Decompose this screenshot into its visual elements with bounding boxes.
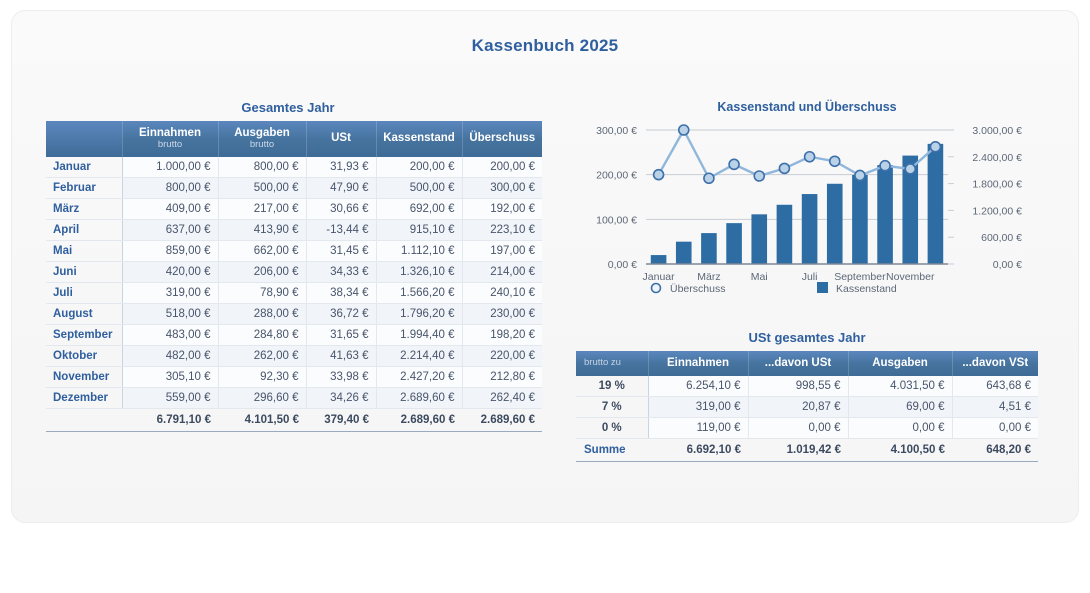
cell-ausgaben: 284,80 € [218, 325, 306, 346]
marker-ueberschuss [679, 125, 689, 135]
year-col-header-ust: USt [306, 121, 376, 157]
cell-kassenstand: 1.112,10 € [376, 241, 462, 262]
cell-einnahmen: 483,00 € [122, 325, 218, 346]
cell-einnahmen: 409,00 € [122, 199, 218, 220]
ust-col-header-brutto-zu: brutto zu [576, 351, 648, 376]
cell-ust: 34,26 € [306, 388, 376, 409]
cell-ueberschuss: 197,00 € [462, 241, 542, 262]
totals-row: 6.791,10 €4.101,50 €379,40 €2.689,60 €2.… [46, 409, 542, 432]
cell-ausgaben: 288,00 € [218, 304, 306, 325]
cell-ust: 31,65 € [306, 325, 376, 346]
tax-rate: 0 % [576, 418, 648, 439]
cell-kassenstand: 915,10 € [376, 220, 462, 241]
tax-rate: 7 % [576, 397, 648, 418]
bar-kassenstand [827, 184, 843, 264]
month-label: Januar [46, 157, 122, 178]
month-label: Juni [46, 262, 122, 283]
bar-kassenstand [676, 242, 692, 264]
cell-einnahmen: 800,00 € [122, 178, 218, 199]
table-row: Januar1.000,00 €800,00 €31,93 €200,00 €2… [46, 157, 542, 178]
table-row: Februar800,00 €500,00 €47,90 €500,00 €30… [46, 178, 542, 199]
totals-davon_ust: 1.019,42 € [748, 439, 848, 462]
bar-kassenstand [651, 255, 667, 264]
cell-ueberschuss: 240,10 € [462, 283, 542, 304]
table-row: Mai859,00 €662,00 €31,45 €1.112,10 €197,… [46, 241, 542, 262]
year-col-header-kassenstand: Kassenstand [376, 121, 462, 157]
cell-ausgaben: 662,00 € [218, 241, 306, 262]
cell-ausgaben: 78,90 € [218, 283, 306, 304]
year-col-header--berschuss: Überschuss [462, 121, 542, 157]
left-axis-tick: 200,00 € [596, 170, 637, 182]
cell-ausgaben: 92,30 € [218, 367, 306, 388]
cell-ausgaben: 296,60 € [218, 388, 306, 409]
kassenstand-ueberschuss-chart: 0,00 €100,00 €200,00 €300,00 €0,00 €600,… [576, 116, 1038, 306]
table-row: September483,00 €284,80 €31,65 €1.994,40… [46, 325, 542, 346]
year-table-header-row: EinnahmenbruttoAusgabenbruttoUStKassenst… [46, 121, 542, 157]
year-col-header-einnahmen: Einnahmenbrutto [122, 121, 218, 157]
year-table: EinnahmenbruttoAusgabenbruttoUStKassenst… [46, 121, 542, 432]
totals-ausgaben: 4.100,50 € [848, 439, 952, 462]
month-label: August [46, 304, 122, 325]
month-label: September [46, 325, 122, 346]
x-axis-tick: Januar [643, 271, 676, 283]
totals-ust: 379,40 € [306, 409, 376, 432]
bar-kassenstand [928, 144, 944, 264]
cell-ust: 47,90 € [306, 178, 376, 199]
totals-row: Summe6.692,10 €1.019,42 €4.100,50 €648,2… [576, 439, 1038, 462]
tax-rate: 19 % [576, 376, 648, 397]
year-col-header-month [46, 121, 122, 157]
month-label: November [46, 367, 122, 388]
cell-ausgaben: 206,00 € [218, 262, 306, 283]
totals-label: Summe [576, 439, 648, 462]
table-row: 7 %319,00 €20,87 €69,00 €4,51 € [576, 397, 1038, 418]
right-axis-tick: 600,00 € [981, 232, 1022, 244]
cell-davon_vst: 643,68 € [952, 376, 1038, 397]
cell-ust: 33,98 € [306, 367, 376, 388]
ust-table-header-row: brutto zuEinnahmen...davon UStAusgaben..… [576, 351, 1038, 376]
legend-marker-ueberschuss [652, 284, 661, 293]
cell-ust: 36,72 € [306, 304, 376, 325]
month-label: Februar [46, 178, 122, 199]
cell-kassenstand: 2.689,60 € [376, 388, 462, 409]
totals-einnahmen: 6.692,10 € [648, 439, 748, 462]
month-label: Dezember [46, 388, 122, 409]
cell-ausgaben: 413,90 € [218, 220, 306, 241]
left-axis-tick: 100,00 € [596, 214, 637, 226]
x-axis-tick: November [886, 271, 935, 283]
marker-ueberschuss [880, 161, 890, 171]
right-axis-tick: 1.800,00 € [972, 179, 1022, 191]
cell-davon_ust: 998,55 € [748, 376, 848, 397]
legend-marker-kassenstand [817, 282, 828, 293]
marker-ueberschuss [905, 164, 915, 174]
month-label: Juli [46, 283, 122, 304]
bar-kassenstand [802, 194, 818, 264]
month-label: März [46, 199, 122, 220]
cell-ust: 41,63 € [306, 346, 376, 367]
cell-ueberschuss: 262,40 € [462, 388, 542, 409]
bar-kassenstand [877, 165, 893, 264]
right-axis-tick: 2.400,00 € [972, 152, 1022, 164]
table-row: November305,10 €92,30 €33,98 €2.427,20 €… [46, 367, 542, 388]
totals-ausgaben: 4.101,50 € [218, 409, 306, 432]
legend-label-kassenstand: Kassenstand [836, 283, 897, 295]
x-axis-tick: Mai [751, 271, 768, 283]
table-row: März409,00 €217,00 €30,66 €692,00 €192,0… [46, 199, 542, 220]
ust-table-section: USt gesamtes Jahr brutto zuEinnahmen...d… [576, 330, 1038, 462]
totals-kassenstand: 2.689,60 € [376, 409, 462, 432]
month-label: Oktober [46, 346, 122, 367]
cell-ausgaben: 800,00 € [218, 157, 306, 178]
cell-kassenstand: 2.214,40 € [376, 346, 462, 367]
cell-ust: 38,34 € [306, 283, 376, 304]
cell-kassenstand: 692,00 € [376, 199, 462, 220]
cell-ausgaben: 217,00 € [218, 199, 306, 220]
bar-kassenstand [777, 205, 793, 264]
year-table-section: Gesamtes Jahr EinnahmenbruttoAusgabenbru… [46, 100, 530, 432]
x-axis-tick: September [834, 271, 886, 283]
cell-ust: 30,66 € [306, 199, 376, 220]
bar-kassenstand [852, 175, 868, 264]
cell-ust: 31,93 € [306, 157, 376, 178]
cell-kassenstand: 1.796,20 € [376, 304, 462, 325]
totals-label [46, 409, 122, 432]
cell-einnahmen: 518,00 € [122, 304, 218, 325]
cell-ueberschuss: 230,00 € [462, 304, 542, 325]
right-axis-tick: 0,00 € [993, 259, 1022, 271]
kassenbuch-page: Kassenbuch 2025 Gesamtes Jahr Einnahmenb… [0, 0, 1090, 593]
cell-ausgaben: 500,00 € [218, 178, 306, 199]
cell-ust: -13,44 € [306, 220, 376, 241]
year-col-header-ausgaben: Ausgabenbrutto [218, 121, 306, 157]
marker-ueberschuss [930, 142, 940, 152]
bar-kassenstand [751, 214, 767, 264]
cell-kassenstand: 500,00 € [376, 178, 462, 199]
cell-ueberschuss: 300,00 € [462, 178, 542, 199]
cell-einnahmen: 319,00 € [648, 397, 748, 418]
left-axis-tick: 300,00 € [596, 125, 637, 137]
table-row: 0 %119,00 €0,00 €0,00 €0,00 € [576, 418, 1038, 439]
cell-einnahmen: 637,00 € [122, 220, 218, 241]
year-table-title: Gesamtes Jahr [46, 100, 530, 115]
table-row: April637,00 €413,90 €-13,44 €915,10 €223… [46, 220, 542, 241]
cell-kassenstand: 2.427,20 € [376, 367, 462, 388]
cell-ausgaben: 262,00 € [218, 346, 306, 367]
marker-ueberschuss [704, 173, 714, 183]
table-row: Juli319,00 €78,90 €38,34 €1.566,20 €240,… [46, 283, 542, 304]
cell-kassenstand: 1.566,20 € [376, 283, 462, 304]
totals-ueberschuss: 2.689,60 € [462, 409, 542, 432]
col-subtitle: brutto [225, 140, 300, 151]
marker-ueberschuss [729, 159, 739, 169]
table-row: 19 %6.254,10 €998,55 €4.031,50 €643,68 € [576, 376, 1038, 397]
bar-kassenstand [701, 233, 717, 264]
cell-ueberschuss: 198,20 € [462, 325, 542, 346]
marker-ueberschuss [754, 171, 764, 181]
table-row: Juni420,00 €206,00 €34,33 €1.326,10 €214… [46, 262, 542, 283]
cell-ust: 31,45 € [306, 241, 376, 262]
cell-davon_vst: 4,51 € [952, 397, 1038, 418]
marker-ueberschuss [779, 163, 789, 173]
legend-label-ueberschuss: Überschuss [670, 283, 725, 295]
cell-kassenstand: 1.326,10 € [376, 262, 462, 283]
cell-ueberschuss: 192,00 € [462, 199, 542, 220]
table-row: August518,00 €288,00 €36,72 €1.796,20 €2… [46, 304, 542, 325]
chart-title: Kassenstand und Überschuss [576, 100, 1038, 114]
cell-kassenstand: 200,00 € [376, 157, 462, 178]
col-subtitle: brutto [129, 140, 212, 151]
ust-col-header--davon-vst: ...davon VSt [952, 351, 1038, 376]
cell-einnahmen: 420,00 € [122, 262, 218, 283]
cell-ueberschuss: 200,00 € [462, 157, 542, 178]
line-ueberschuss [659, 130, 936, 178]
cell-ueberschuss: 223,10 € [462, 220, 542, 241]
cell-davon_ust: 0,00 € [748, 418, 848, 439]
x-axis-tick: März [697, 271, 720, 283]
ust-col-header--davon-ust: ...davon USt [748, 351, 848, 376]
cell-ausgaben: 69,00 € [848, 397, 952, 418]
x-axis-tick: Juli [802, 271, 818, 283]
month-label: April [46, 220, 122, 241]
totals-einnahmen: 6.791,10 € [122, 409, 218, 432]
cell-einnahmen: 119,00 € [648, 418, 748, 439]
cell-einnahmen: 319,00 € [122, 283, 218, 304]
cell-ueberschuss: 214,00 € [462, 262, 542, 283]
right-axis-tick: 3.000,00 € [972, 125, 1022, 137]
cell-ueberschuss: 220,00 € [462, 346, 542, 367]
ust-table-title: USt gesamtes Jahr [576, 330, 1038, 345]
cell-einnahmen: 1.000,00 € [122, 157, 218, 178]
cell-ausgaben: 0,00 € [848, 418, 952, 439]
marker-ueberschuss [830, 156, 840, 166]
cell-einnahmen: 305,10 € [122, 367, 218, 388]
page-title: Kassenbuch 2025 [0, 36, 1090, 56]
cell-einnahmen: 6.254,10 € [648, 376, 748, 397]
marker-ueberschuss [855, 170, 865, 180]
totals-davon_vst: 648,20 € [952, 439, 1038, 462]
cell-davon_vst: 0,00 € [952, 418, 1038, 439]
marker-ueberschuss [654, 170, 664, 180]
left-axis-tick: 0,00 € [608, 259, 637, 271]
right-axis-tick: 1.200,00 € [972, 205, 1022, 217]
cell-ust: 34,33 € [306, 262, 376, 283]
month-label: Mai [46, 241, 122, 262]
cell-davon_ust: 20,87 € [748, 397, 848, 418]
chart-section: Kassenstand und Überschuss 0,00 €100,00 … [576, 100, 1038, 308]
table-row: Dezember559,00 €296,60 €34,26 €2.689,60 … [46, 388, 542, 409]
ust-table: brutto zuEinnahmen...davon UStAusgaben..… [576, 351, 1038, 462]
cell-einnahmen: 559,00 € [122, 388, 218, 409]
cell-kassenstand: 1.994,40 € [376, 325, 462, 346]
bar-kassenstand [726, 223, 742, 264]
marker-ueberschuss [805, 152, 815, 162]
cell-einnahmen: 482,00 € [122, 346, 218, 367]
cell-ueberschuss: 212,80 € [462, 367, 542, 388]
ust-col-header-ausgaben: Ausgaben [848, 351, 952, 376]
cell-ausgaben: 4.031,50 € [848, 376, 952, 397]
cell-einnahmen: 859,00 € [122, 241, 218, 262]
ust-col-header-einnahmen: Einnahmen [648, 351, 748, 376]
table-row: Oktober482,00 €262,00 €41,63 €2.214,40 €… [46, 346, 542, 367]
